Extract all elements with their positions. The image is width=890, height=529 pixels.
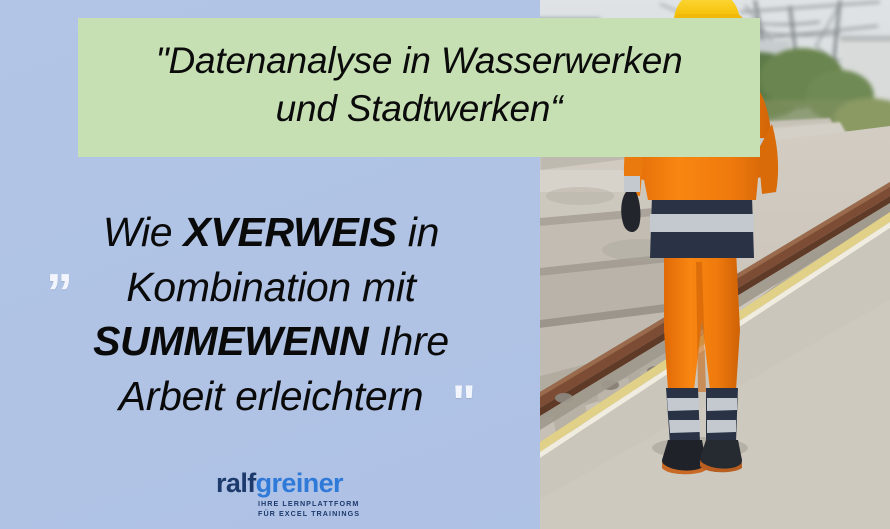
headline-3-bold: SUMMEWENN (93, 318, 368, 364)
logo-tagline-line-1: IHRE LERNPLATTFORM (258, 499, 376, 509)
headline-4-pre: Arbeit erleichtern (119, 373, 424, 419)
headline-line-1: Wie XVERWEIS in (36, 205, 506, 260)
headline-line-4: Arbeit erleichtern (36, 369, 506, 424)
logo-wordmark: ralfgreiner (216, 470, 376, 497)
headline-1-post: in (397, 209, 439, 255)
headline-block: Wie XVERWEIS in Kombination mit SUMMEWEN… (36, 205, 506, 423)
headline-1-pre: Wie (103, 209, 183, 255)
trouser-cuff-left (666, 388, 700, 444)
brand-logo: ralfgreiner IHRE LERNPLATTFORM FÜR EXCEL… (216, 470, 376, 519)
slide-canvas: "Datenanalyse in Wasserwerken und Stadtw… (0, 0, 890, 529)
headline-line-2: Kombination mit (36, 260, 506, 315)
trouser-cuff-right (706, 388, 738, 444)
jacket-reflective-band-lower (650, 214, 754, 232)
logo-tagline: IHRE LERNPLATTFORM FÜR EXCEL TRAININGS (258, 499, 376, 519)
title-line-2: und Stadtwerken“ (276, 85, 563, 132)
logo-tagline-line-2: FÜR EXCEL TRAININGS (258, 509, 376, 519)
logo-part-greiner: greiner (256, 468, 343, 498)
title-line-1: "Datenanalyse in Wasserwerken (156, 37, 683, 84)
headline-line-3: SUMMEWENN Ihre (36, 314, 506, 369)
logo-part-ralf: ralf (216, 468, 256, 498)
work-glove (621, 192, 640, 232)
title-band: "Datenanalyse in Wasserwerken und Stadtw… (78, 18, 760, 157)
headline-2-pre: Kombination mit (126, 264, 415, 310)
headline-1-bold: XVERWEIS (183, 209, 396, 255)
closing-quote-mark: " (452, 378, 476, 428)
headline-3-post: Ihre (368, 318, 449, 364)
